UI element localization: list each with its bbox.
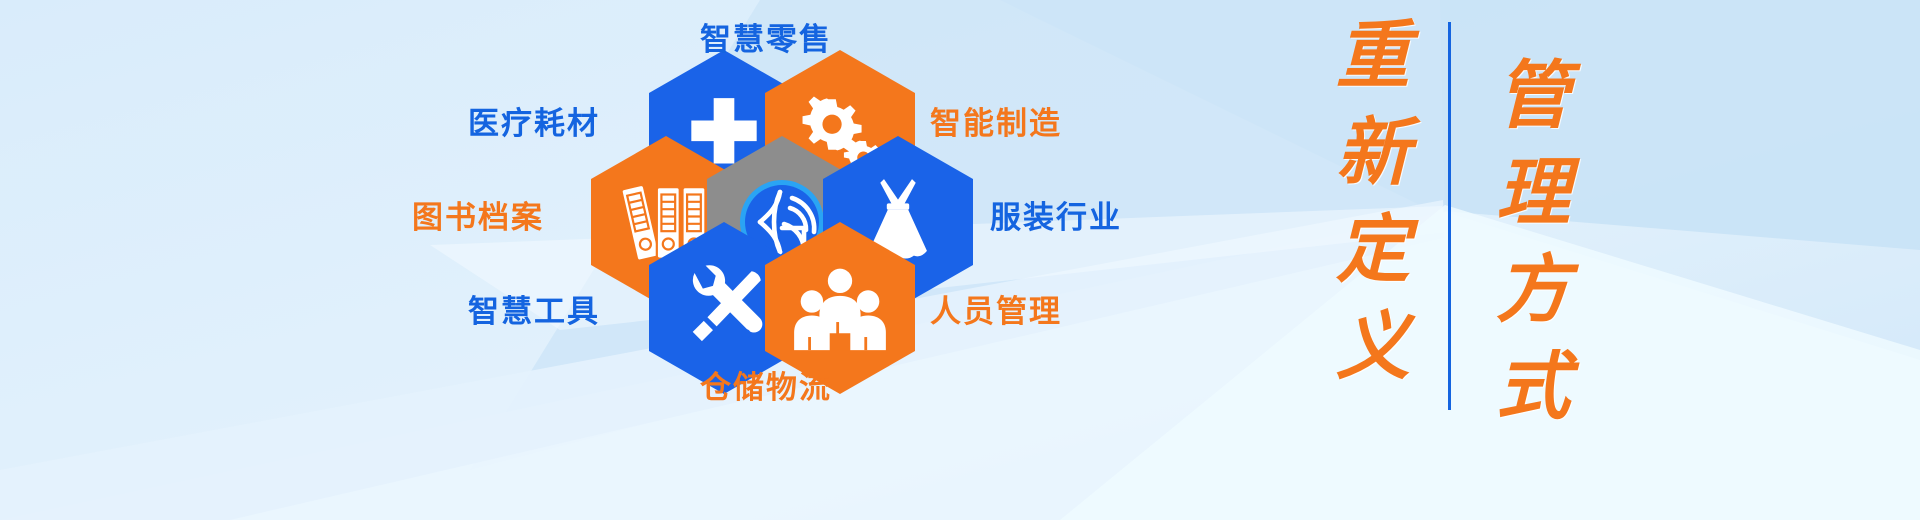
label-smart-retail: 智慧零售	[700, 14, 832, 59]
calligraphy-right-column: 管 理 方 式	[1478, 48, 1588, 436]
label-medical-supplies: 医疗耗材	[468, 98, 600, 143]
calligraphy-char: 管	[1478, 48, 1588, 145]
calligraphy-char: 重	[1318, 8, 1428, 105]
label-apparel-industry: 服装行业	[990, 192, 1122, 237]
promo-banner: 智慧零售 医疗耗材 智能制造 图书档案 服装行业 智慧工具 人员管理 仓储物流 …	[0, 0, 1920, 520]
label-warehouse-logistics: 仓储物流	[700, 362, 832, 407]
calligraphy-char: 新	[1318, 105, 1428, 202]
label-library-archives: 图书档案	[412, 192, 544, 237]
vertical-divider	[1448, 22, 1451, 410]
calligraphy-char: 定	[1318, 202, 1428, 299]
label-personnel-management: 人员管理	[930, 286, 1062, 331]
calligraphy-char: 义	[1318, 299, 1428, 396]
calligraphy-left-column: 重 新 定 义	[1318, 8, 1428, 396]
label-smart-tools: 智慧工具	[468, 286, 600, 331]
calligraphy-char: 式	[1478, 339, 1588, 436]
people-group-icon	[793, 264, 887, 352]
wrench-screwdriver-icon	[678, 262, 770, 354]
calligraphy-char: 理	[1478, 145, 1588, 242]
label-smart-manufacturing: 智能制造	[930, 98, 1062, 143]
calligraphy-char: 方	[1478, 242, 1588, 339]
